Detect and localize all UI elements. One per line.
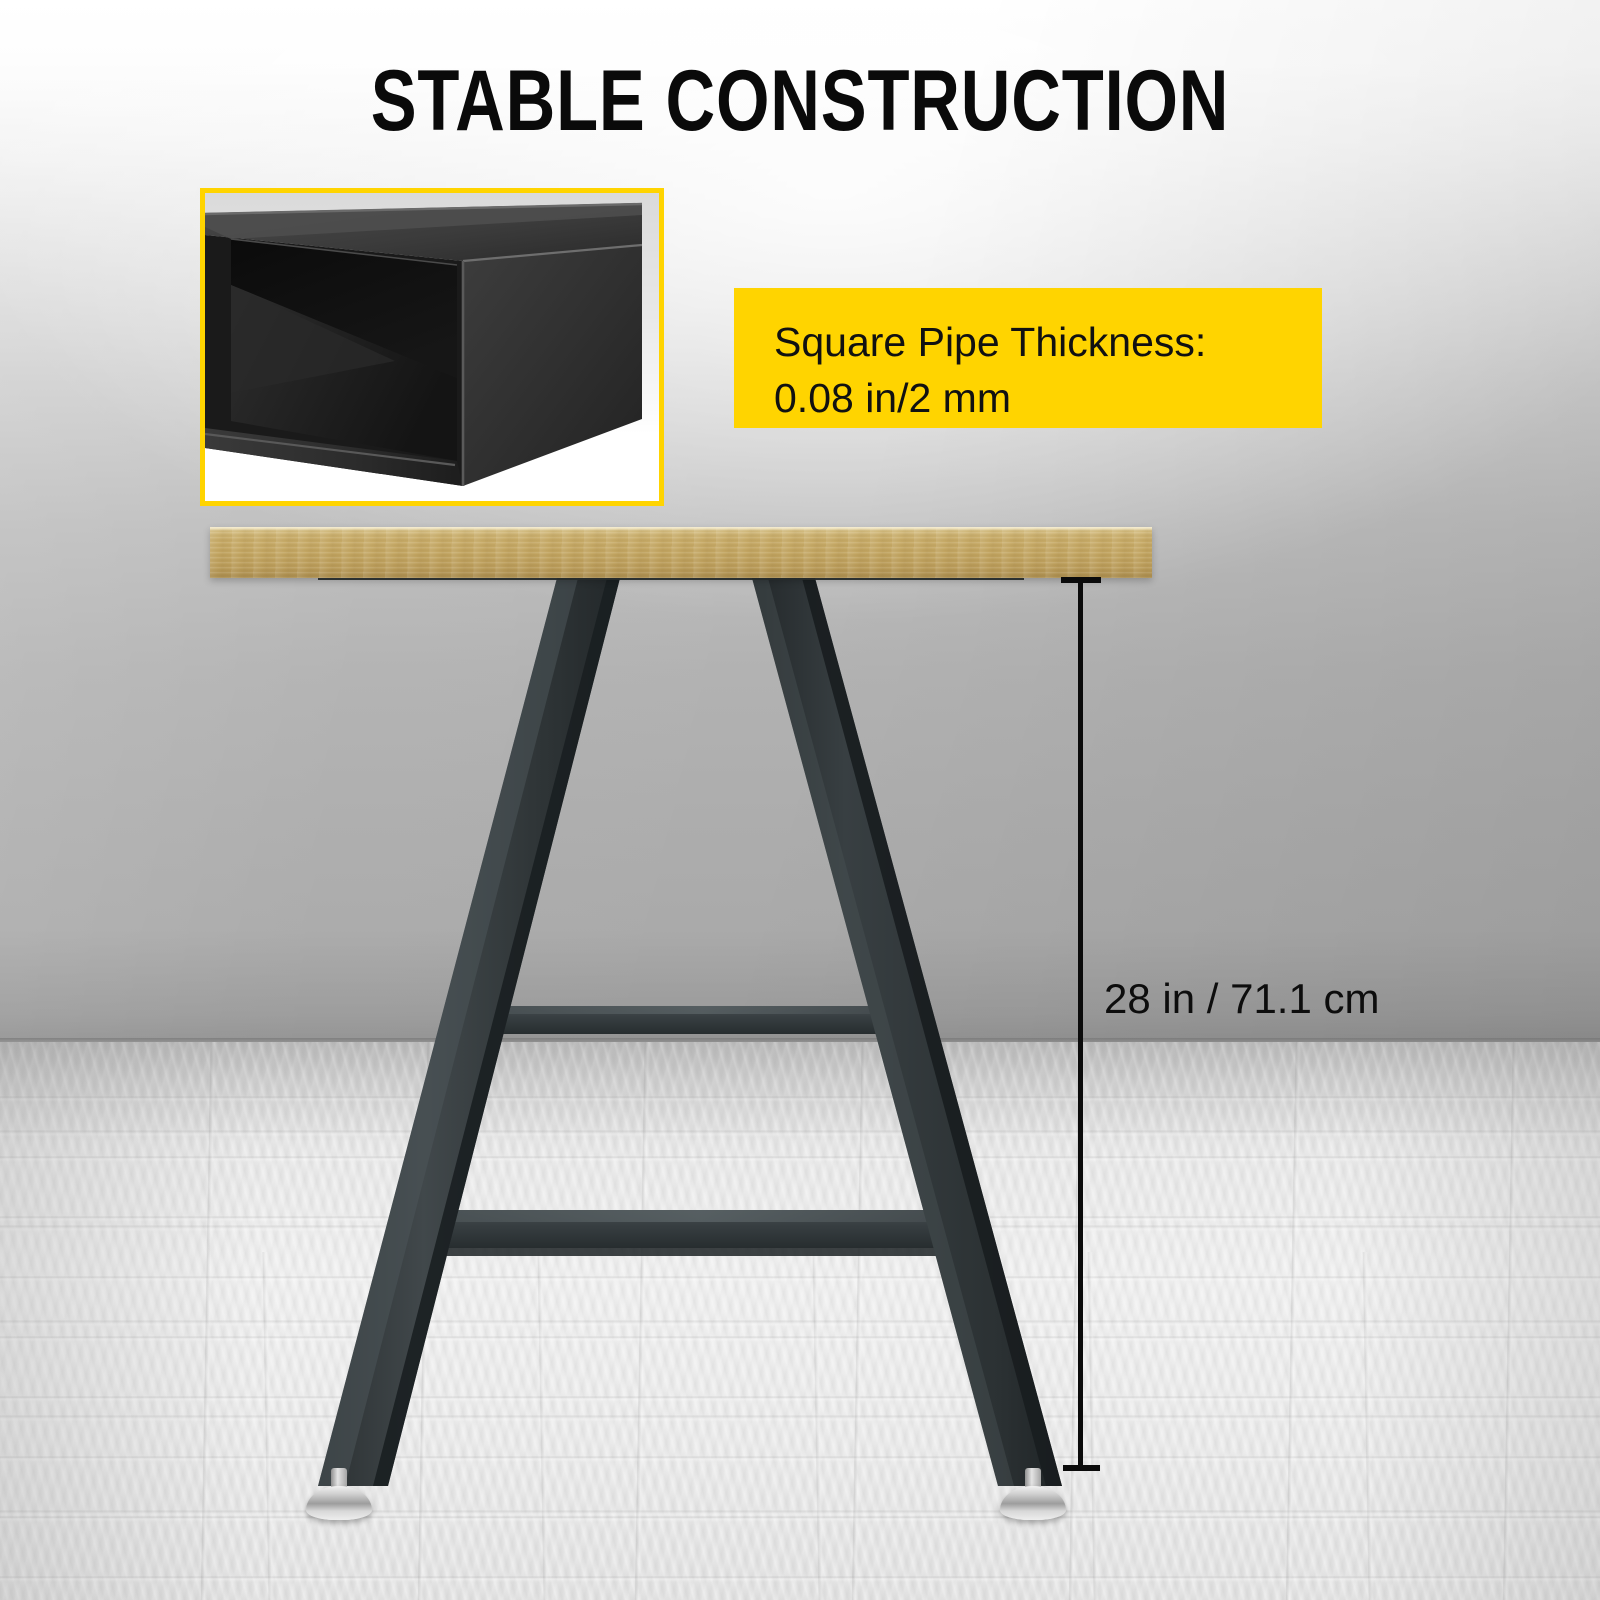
- wall-background: [0, 0, 1600, 1048]
- floor-background: [0, 1042, 1600, 1600]
- product-infographic: STABLE CONSTRUCTION: [0, 0, 1600, 1600]
- height-dimension-cap-bottom: [1063, 1465, 1100, 1471]
- tabletop-grain-horizontal: [210, 527, 1152, 578]
- height-dimension-line: [1078, 577, 1083, 1471]
- callout-line-1: Square Pipe Thickness:: [774, 314, 1322, 370]
- floor-vignette: [0, 1042, 1600, 1600]
- square-tube-inset: [200, 188, 664, 506]
- square-tube-illustration: [205, 193, 659, 501]
- wall-sheen: [0, 0, 1600, 1048]
- page-title: STABLE CONSTRUCTION: [160, 58, 1440, 144]
- tabletop: [210, 527, 1152, 578]
- callout-square-pipe-thickness: Square Pipe Thickness: 0.08 in/2 mm: [734, 288, 1322, 428]
- callout-line-2: 0.08 in/2 mm: [774, 370, 1322, 426]
- height-dimension-cap-top: [1061, 577, 1101, 583]
- height-dimension-label: 28 in / 71.1 cm: [1104, 975, 1379, 1023]
- tabletop-highlight: [210, 527, 1152, 531]
